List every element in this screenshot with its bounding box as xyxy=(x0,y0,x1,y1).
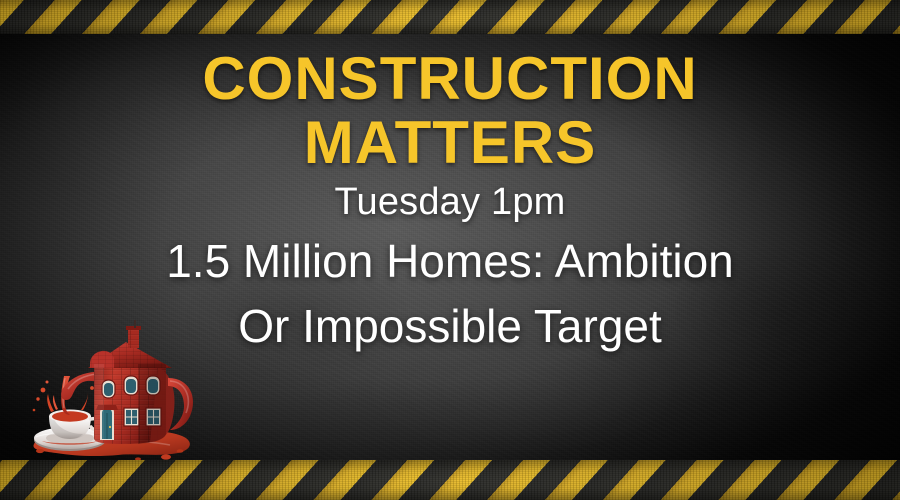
headline-line-1: 1.5 Million Homes: Ambition xyxy=(0,238,900,284)
page-title-line-2: MATTERS xyxy=(0,113,900,173)
hazard-stripe-band-bottom xyxy=(0,460,900,500)
hazard-shading-overlay xyxy=(0,460,900,500)
schedule-text: Tuesday 1pm xyxy=(0,183,900,221)
construction-matters-poster: CONSTRUCTION MATTERS Tuesday 1pm 1.5 Mil… xyxy=(0,0,900,500)
page-title-line-1: CONSTRUCTION xyxy=(0,49,900,109)
poster-content: CONSTRUCTION MATTERS Tuesday 1pm 1.5 Mil… xyxy=(0,0,900,500)
headline-line-2: Or Impossible Target xyxy=(0,303,900,349)
